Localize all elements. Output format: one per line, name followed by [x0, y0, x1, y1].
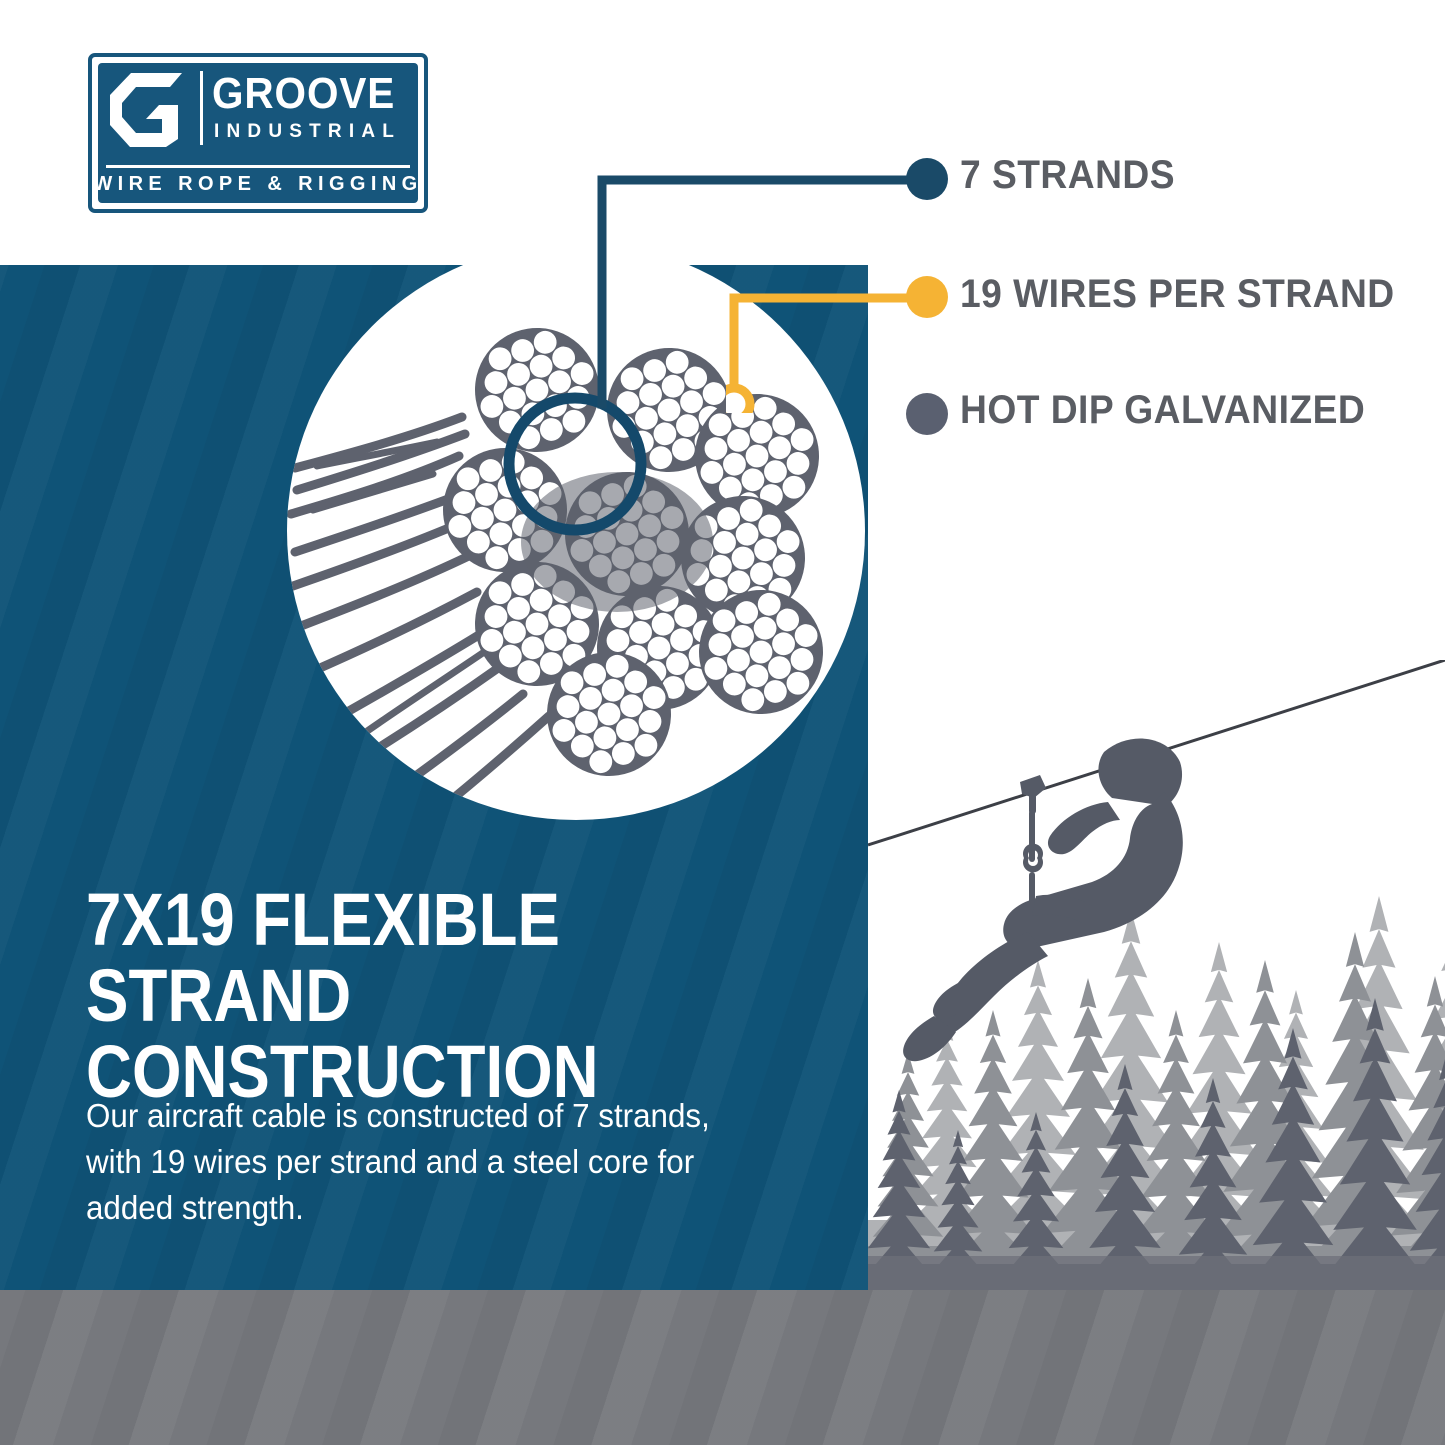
logo-outer-frame: GROOVE INDUSTRIAL WIRE ROPE & RIGGING — [88, 53, 428, 213]
logo-horizontal-rule — [106, 165, 410, 168]
bottom-gray-bar — [0, 1290, 1445, 1445]
callout-dot-strands — [906, 158, 948, 200]
callout-label-strands: 7 STRANDS — [960, 153, 1175, 198]
logo-subword: INDUSTRIAL — [214, 121, 414, 143]
body-copy: Our aircraft cable is constructed of 7 s… — [86, 1093, 713, 1231]
zipline-scene — [868, 660, 1445, 1290]
logo-vertical-divider — [200, 71, 203, 145]
logo-wordmark: GROOVE — [212, 69, 398, 119]
callout-label-wires: 19 WIRES PER STRAND — [960, 272, 1395, 317]
brand-logo[interactable]: GROOVE INDUSTRIAL WIRE ROPE & RIGGING — [88, 53, 428, 213]
callout-dot-wires — [906, 276, 948, 318]
wire-anchor-ring — [726, 388, 750, 413]
callout-label-galvanized: HOT DIP GALVANIZED — [960, 388, 1365, 433]
headline-line-1: 7X19 FLEXIBLE — [86, 878, 560, 961]
bottom-bar-stripe-texture — [0, 1290, 1445, 1445]
infographic-canvas: GROOVE INDUSTRIAL WIRE ROPE & RIGGING — [0, 0, 1445, 1445]
leader-line-wires — [726, 288, 916, 413]
page-headline: 7X19 FLEXIBLE STRAND CONSTRUCTION — [86, 882, 722, 1110]
logo-tagline: WIRE ROPE & RIGGING — [92, 173, 424, 196]
callout-dot-galvanized — [906, 393, 948, 435]
g-monogram-icon — [110, 73, 190, 147]
headline-line-2: STRAND CONSTRUCTION — [86, 958, 722, 1110]
